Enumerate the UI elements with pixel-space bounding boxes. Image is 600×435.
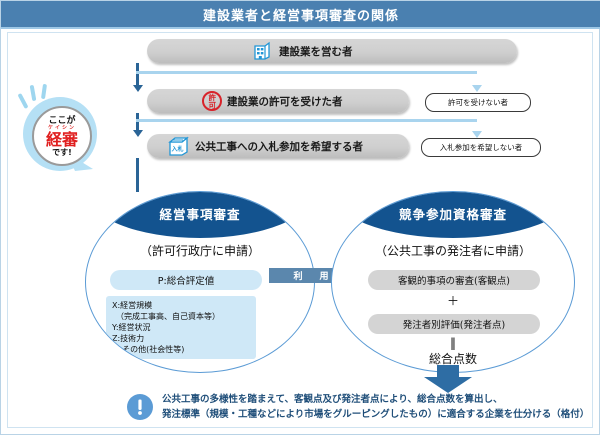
step-label-2: 建設業の許可を受けた者	[227, 94, 343, 109]
callout-bubble: ここが ケイシン 経審 です!	[23, 97, 97, 171]
left-panel-title: 経営事項審査	[86, 204, 314, 223]
building-icon	[251, 40, 273, 62]
branch-pill-1[interactable]: 許可を受けない者	[425, 93, 531, 112]
permit-stamp-icon: 許 可	[201, 90, 223, 112]
client-rating-pill[interactable]: 発注者別評価(発注者点)	[368, 314, 540, 334]
plus-symbol: ＋	[332, 292, 574, 309]
footer-note-line-1: 公共工事の多様性を踏まえて、客観点及び発注者点により、総合点数を算出し、	[162, 392, 589, 407]
callout-inner-circle: ここが ケイシン 経審 です!	[32, 106, 92, 166]
footer-note: 公共工事の多様性を踏まえて、客観点及び発注者点により、総合点数を算出し、 発注標…	[13, 386, 587, 428]
score-pill[interactable]: P:総合評定値	[110, 270, 262, 290]
objective-review-label: 客観的事項の審査(客観点)	[398, 273, 510, 287]
left-panel-subtitle: （許可行政庁に申請）	[86, 242, 314, 259]
callout-bottom-text: です!	[52, 148, 72, 157]
branch-arrow-1	[472, 85, 482, 92]
right-panel-subtitle: （公共工事の発注者に申請）	[332, 242, 574, 259]
criteria-item: （完成工事高、自己資本等）	[112, 311, 250, 322]
ballot-box-icon: 入札	[167, 135, 191, 157]
branch-arrow-2	[472, 131, 482, 138]
branch-label-1: 許可を受けない者	[448, 97, 508, 108]
connector-line-1	[136, 63, 139, 87]
step-label-3: 公共工事への入札参加を希望する者	[195, 139, 363, 154]
connector-arrow-2	[133, 130, 143, 137]
footer-note-text: 公共工事の多様性を踏まえて、客観点及び発注者点により、総合点数を算出し、 発注標…	[162, 392, 589, 422]
branch-pill-2[interactable]: 入札参加を希望しない者	[421, 138, 541, 157]
criteria-item: Y:経営状況	[112, 322, 250, 333]
step-pill-1[interactable]: 建設業を営む者	[147, 39, 517, 63]
step-label-1: 建設業を営む者	[279, 44, 353, 59]
branch-label-2: 入札参加を希望しない者	[440, 142, 523, 153]
right-panel-title: 競争参加資格審査	[332, 204, 574, 223]
footer-note-line-2: 発注標準（規模・工種などにより市場をグルーピングしたもの）に適合する企業を仕分け…	[162, 407, 589, 422]
client-rating-label: 発注者別評価(発注者点)	[403, 317, 505, 331]
svg-text:可: 可	[209, 101, 217, 110]
title-bar: 建設業者と経営事項審査の関係	[1, 1, 600, 29]
criteria-item: X:経営規模	[112, 300, 250, 311]
right-panel: 競争参加資格審査 （公共工事の発注者に申請） 客観的事項の審査(客観点) ＋ 発…	[331, 191, 575, 373]
branch-line-2	[136, 119, 477, 122]
criteria-box: X:経営規模 （完成工事高、自己資本等） Y:経営状況 Z:技術力 W:その他(…	[106, 296, 256, 359]
step-pill-2[interactable]: 許 可 建設業の許可を受けた者	[147, 89, 409, 113]
score-label: P:総合評定値	[158, 273, 214, 287]
connector-arrow-1	[133, 85, 143, 92]
equals-symbol: ‖	[332, 336, 574, 350]
svg-text:入札: 入札	[171, 145, 184, 153]
callout-main-text: 経審	[46, 131, 78, 148]
criteria-item: W:その他(社会性等)	[112, 344, 250, 355]
page-title: 建設業者と経営事項審査の関係	[203, 5, 399, 24]
callout-top-text: ここが	[48, 116, 75, 126]
use-connector-label: 利 用	[293, 269, 332, 282]
step-pill-3[interactable]: 入札 公共工事への入札参加を希望する者	[147, 134, 409, 158]
diagram-root: 建設業者と経営事項審査の関係 建設業を営む者	[0, 0, 600, 435]
exclamation-icon	[127, 394, 153, 420]
objective-review-pill[interactable]: 客観的事項の審査(客観点)	[368, 270, 540, 290]
criteria-item: Z:技術力	[112, 333, 250, 344]
connector-line-3	[136, 158, 139, 192]
branch-line-1	[136, 71, 477, 74]
